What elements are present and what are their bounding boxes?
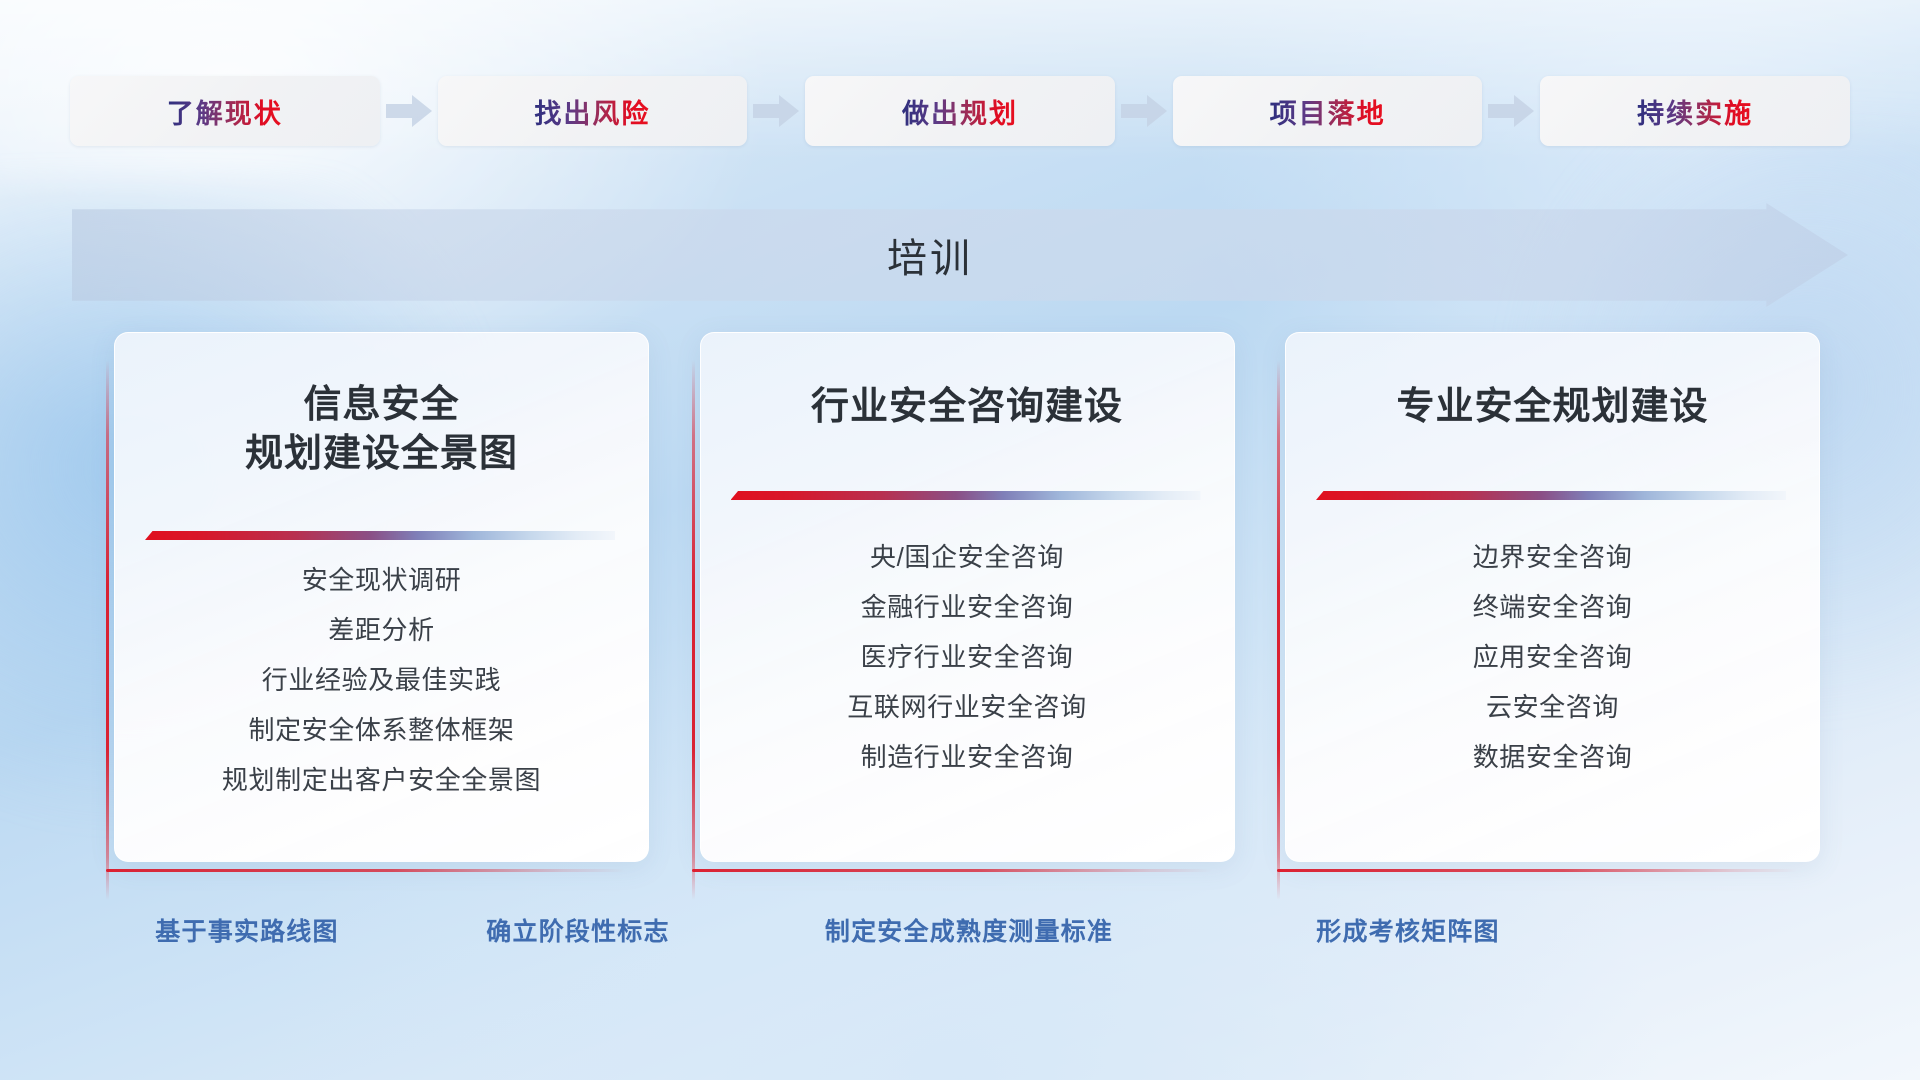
service-card-title-line: 信息安全 bbox=[245, 381, 518, 430]
training-banner: 培训 bbox=[72, 203, 1848, 307]
service-card-2[interactable]: 行业安全咨询建设央/国企安全咨询金融行业安全咨询医疗行业安全咨询互联网行业安全咨… bbox=[700, 332, 1235, 862]
list-item[interactable]: 安全现状调研 bbox=[302, 561, 462, 600]
process-step-label: 项目落地 bbox=[1270, 92, 1386, 131]
service-card-3[interactable]: 专业安全规划建设边界安全咨询终端安全咨询应用安全咨询云安全咨询数据安全咨询 bbox=[1285, 332, 1820, 862]
card-gradient-divider-bar bbox=[145, 531, 615, 540]
service-card-title-line: 规划建设全景图 bbox=[245, 430, 518, 479]
list-item[interactable]: 规划制定出客户安全全景图 bbox=[222, 761, 541, 800]
bottom-label-row: 基于事实路线图确立阶段性标志制定安全成熟度测量标准形成考核矩阵图 bbox=[0, 912, 1920, 960]
card-gradient-divider bbox=[1316, 491, 1786, 500]
card-gradient-divider-bar bbox=[1316, 491, 1786, 500]
process-step-label: 了解现状 bbox=[167, 92, 283, 131]
service-card-title: 行业安全咨询建设 bbox=[811, 383, 1123, 432]
list-item[interactable]: 医疗行业安全咨询 bbox=[861, 638, 1074, 677]
list-item[interactable]: 差距分析 bbox=[328, 611, 434, 650]
card-red-accent-bar bbox=[106, 360, 109, 900]
card-gradient-divider bbox=[731, 491, 1201, 500]
service-card-wrapper-3: 专业安全规划建设边界安全咨询终端安全咨询应用安全咨询云安全咨询数据安全咨询 bbox=[1275, 332, 1820, 880]
process-step-5[interactable]: 持续实施 bbox=[1540, 76, 1850, 146]
service-card-1[interactable]: 信息安全规划建设全景图安全现状调研差距分析行业经验及最佳实践制定安全体系整体框架… bbox=[114, 332, 649, 862]
training-banner-title: 培训 bbox=[72, 203, 1848, 307]
bottom-label-4: 形成考核矩阵图 bbox=[1316, 912, 1499, 948]
process-step-label: 找出风险 bbox=[534, 92, 650, 131]
service-cards-row: 信息安全规划建设全景图安全现状调研差距分析行业经验及最佳实践制定安全体系整体框架… bbox=[104, 332, 1820, 880]
process-step-4[interactable]: 项目落地 bbox=[1173, 76, 1483, 146]
card-red-accent-bottom bbox=[692, 869, 1212, 872]
list-item[interactable]: 央/国企安全咨询 bbox=[870, 538, 1064, 577]
card-red-accent-bottom bbox=[106, 869, 626, 872]
card-red-accent-bottom bbox=[1277, 869, 1797, 872]
service-card-title: 信息安全规划建设全景图 bbox=[245, 381, 518, 478]
service-card-wrapper-2: 行业安全咨询建设央/国企安全咨询金融行业安全咨询医疗行业安全咨询互联网行业安全咨… bbox=[690, 332, 1235, 880]
card-red-accent-bar bbox=[692, 360, 695, 900]
list-item[interactable]: 边界安全咨询 bbox=[1473, 538, 1633, 577]
list-item[interactable]: 互联网行业安全咨询 bbox=[847, 688, 1086, 727]
card-red-accent-bar bbox=[1277, 360, 1280, 900]
list-item[interactable]: 制定安全体系整体框架 bbox=[248, 711, 514, 750]
process-step-2[interactable]: 找出风险 bbox=[438, 76, 748, 146]
service-card-title-line: 专业安全规划建设 bbox=[1396, 383, 1708, 432]
list-item[interactable]: 数据安全咨询 bbox=[1473, 738, 1633, 777]
bottom-label-3: 制定安全成熟度测量标准 bbox=[825, 912, 1113, 948]
process-step-3[interactable]: 做出规划 bbox=[805, 76, 1115, 146]
arrow-right-icon bbox=[380, 90, 438, 132]
list-item[interactable]: 云安全咨询 bbox=[1486, 688, 1619, 727]
service-card-list: 央/国企安全咨询金融行业安全咨询医疗行业安全咨询互联网行业安全咨询制造行业安全咨… bbox=[727, 516, 1208, 777]
service-card-list: 安全现状调研差距分析行业经验及最佳实践制定安全体系整体框架规划制定出客户安全全景… bbox=[141, 539, 622, 800]
process-step-row: 了解现状找出风险做出规划项目落地持续实施 bbox=[70, 76, 1850, 146]
service-card-title-line: 行业安全咨询建设 bbox=[811, 383, 1123, 432]
list-item[interactable]: 制造行业安全咨询 bbox=[861, 738, 1074, 777]
process-step-label: 持续实施 bbox=[1637, 92, 1753, 131]
list-item[interactable]: 应用安全咨询 bbox=[1473, 638, 1633, 677]
bottom-label-1: 基于事实路线图 bbox=[155, 912, 338, 948]
bottom-label-2: 确立阶段性标志 bbox=[486, 912, 669, 948]
list-item[interactable]: 终端安全咨询 bbox=[1473, 588, 1633, 627]
list-item[interactable]: 行业经验及最佳实践 bbox=[262, 661, 501, 700]
card-gradient-divider bbox=[145, 531, 615, 540]
list-item[interactable]: 金融行业安全咨询 bbox=[861, 588, 1074, 627]
card-gradient-divider-bar bbox=[731, 491, 1201, 500]
service-card-list: 边界安全咨询终端安全咨询应用安全咨询云安全咨询数据安全咨询 bbox=[1312, 516, 1793, 777]
process-step-1[interactable]: 了解现状 bbox=[70, 76, 380, 146]
arrow-right-icon bbox=[747, 90, 805, 132]
service-card-wrapper-1: 信息安全规划建设全景图安全现状调研差距分析行业经验及最佳实践制定安全体系整体框架… bbox=[104, 332, 649, 880]
arrow-right-icon bbox=[1115, 90, 1173, 132]
process-step-label: 做出规划 bbox=[902, 92, 1018, 131]
arrow-right-icon bbox=[1482, 90, 1540, 132]
service-card-title: 专业安全规划建设 bbox=[1396, 383, 1708, 432]
